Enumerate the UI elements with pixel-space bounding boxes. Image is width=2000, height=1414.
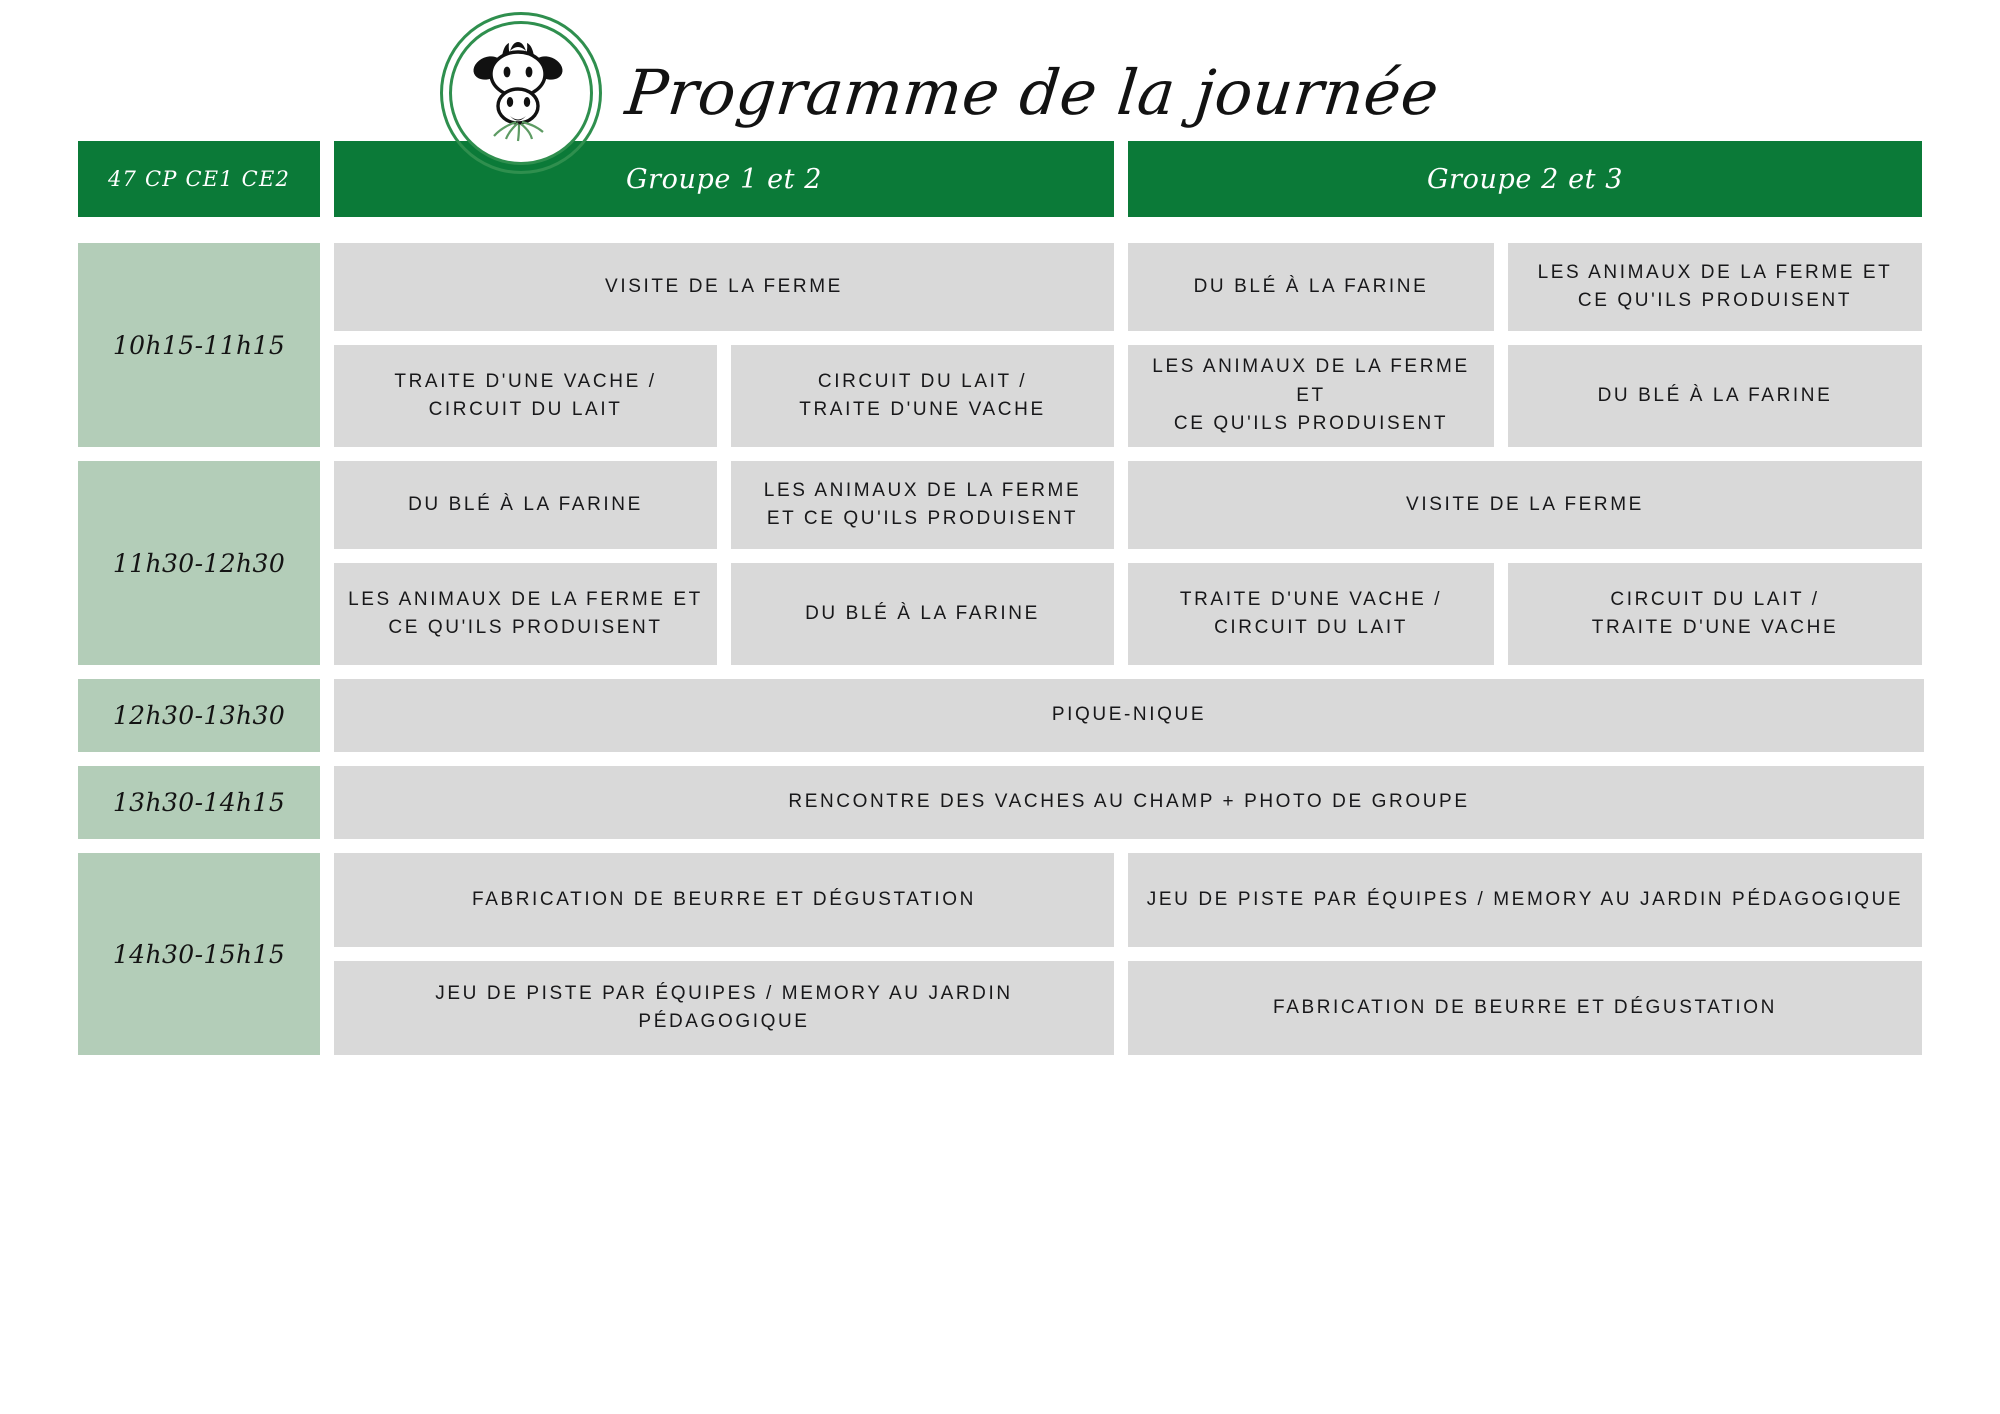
cow-head-icon	[440, 12, 602, 174]
table-row: 14h30-15h15 FABRICATION DE BEURRE ET DÉG…	[78, 853, 1924, 1055]
activity-subrow: DU BLÉ À LA FARINE LES ANIMAUX DE LA FER…	[1128, 243, 1922, 331]
activity-cell: JEU DE PISTE PAR ÉQUIPES / MEMORY AU JAR…	[1128, 853, 1922, 947]
activity-cell: LES ANIMAUX DE LA FERME ET CE QU'ILS PRO…	[334, 563, 717, 665]
activity-text: CE QU'ILS PRODUISENT	[1538, 287, 1893, 316]
activity-cell: VISITE DE LA FERME	[334, 243, 1114, 331]
row-time-label: 11h30-12h30	[78, 461, 320, 665]
activity-subrow: JEU DE PISTE PAR ÉQUIPES / MEMORY AU JAR…	[334, 961, 1114, 1055]
activity-text: JEU DE PISTE PAR ÉQUIPES / MEMORY AU JAR…	[1147, 886, 1903, 915]
row-time-label: 14h30-15h15	[78, 853, 320, 1055]
activity-subrow: VISITE DE LA FERME	[334, 243, 1114, 331]
activity-text: TRAITE D'UNE VACHE	[799, 396, 1045, 425]
activity-cell: DU BLÉ À LA FARINE	[731, 563, 1114, 665]
activity-cell: LES ANIMAUX DE LA FERME ET CE QU'ILS PRO…	[1128, 345, 1494, 447]
activity-subrow: TRAITE D'UNE VACHE / CIRCUIT DU LAIT CIR…	[1128, 563, 1922, 665]
row-time-label: 10h15-11h15	[78, 243, 320, 447]
row-fullwidth-cells: RENCONTRE DES VACHES AU CHAMP + PHOTO DE…	[334, 766, 1924, 839]
schedule-table: 47 CP CE1 CE2 Groupe 1 et 2 Groupe 2 et …	[78, 141, 1924, 1069]
activity-subrow: PIQUE-NIQUE	[334, 679, 1924, 752]
activity-text: CIRCUIT DU LAIT	[394, 396, 656, 425]
activity-text: TRAITE D'UNE VACHE	[1592, 614, 1838, 643]
row-time-label: 12h30-13h30	[78, 679, 320, 752]
activity-cell: CIRCUIT DU LAIT / TRAITE D'UNE VACHE	[731, 345, 1114, 447]
row-fullwidth-cells: PIQUE-NIQUE	[334, 679, 1924, 752]
activity-cell: VISITE DE LA FERME	[1128, 461, 1922, 549]
activity-text: ET CE QU'ILS PRODUISENT	[764, 505, 1081, 534]
row-group-1-cells: DU BLÉ À LA FARINE LES ANIMAUX DE LA FER…	[334, 461, 1114, 665]
activity-cell: DU BLÉ À LA FARINE	[1128, 243, 1494, 331]
activity-subrow: JEU DE PISTE PAR ÉQUIPES / MEMORY AU JAR…	[1128, 853, 1922, 947]
activity-text: VISITE DE LA FERME	[1406, 491, 1644, 520]
activity-text: PIQUE-NIQUE	[1052, 701, 1206, 730]
activity-cell: TRAITE D'UNE VACHE / CIRCUIT DU LAIT	[1128, 563, 1494, 665]
activity-text: LES ANIMAUX DE LA FERME ET	[1142, 353, 1480, 410]
activity-cell: PIQUE-NIQUE	[334, 679, 1924, 752]
activity-text: CIRCUIT DU LAIT	[1180, 614, 1442, 643]
cow-head-glyph	[454, 26, 582, 154]
activity-cell: FABRICATION DE BEURRE ET DÉGUSTATION	[1128, 961, 1922, 1055]
activity-subrow: RENCONTRE DES VACHES AU CHAMP + PHOTO DE…	[334, 766, 1924, 839]
row-group-1-cells: FABRICATION DE BEURRE ET DÉGUSTATION JEU…	[334, 853, 1114, 1055]
activity-text: CIRCUIT DU LAIT /	[799, 368, 1045, 397]
activity-cell: DU BLÉ À LA FARINE	[1508, 345, 1922, 447]
activity-subrow: TRAITE D'UNE VACHE / CIRCUIT DU LAIT CIR…	[334, 345, 1114, 447]
activity-subrow: LES ANIMAUX DE LA FERME ET CE QU'ILS PRO…	[334, 563, 1114, 665]
activity-cell: LES ANIMAUX DE LA FERME ET CE QU'ILS PRO…	[731, 461, 1114, 549]
row-time-label: 13h30-14h15	[78, 766, 320, 839]
activity-text: TRAITE D'UNE VACHE /	[1180, 586, 1442, 615]
activity-subrow: LES ANIMAUX DE LA FERME ET CE QU'ILS PRO…	[1128, 345, 1922, 447]
header-time-column: 47 CP CE1 CE2	[78, 141, 320, 217]
activity-subrow: DU BLÉ À LA FARINE LES ANIMAUX DE LA FER…	[334, 461, 1114, 549]
activity-subrow: FABRICATION DE BEURRE ET DÉGUSTATION	[334, 853, 1114, 947]
activity-text: FABRICATION DE BEURRE ET DÉGUSTATION	[472, 886, 976, 915]
activity-text: DU BLÉ À LA FARINE	[408, 491, 643, 520]
table-row: 12h30-13h30 PIQUE-NIQUE	[78, 679, 1924, 752]
page-header: Programme de la journée	[440, 8, 1438, 178]
activity-cell: JEU DE PISTE PAR ÉQUIPES / MEMORY AU JAR…	[334, 961, 1114, 1055]
activity-text: CE QU'ILS PRODUISENT	[1142, 410, 1480, 439]
activity-text: CIRCUIT DU LAIT /	[1592, 586, 1838, 615]
row-group-2-cells: VISITE DE LA FERME TRAITE D'UNE VACHE / …	[1128, 461, 1922, 665]
row-group-2-cells: DU BLÉ À LA FARINE LES ANIMAUX DE LA FER…	[1128, 243, 1922, 447]
activity-subrow: VISITE DE LA FERME	[1128, 461, 1922, 549]
row-group-2-cells: JEU DE PISTE PAR ÉQUIPES / MEMORY AU JAR…	[1128, 853, 1922, 1055]
page-title: Programme de la journée	[623, 62, 1442, 124]
activity-text: LES ANIMAUX DE LA FERME ET	[1538, 259, 1893, 288]
programme-page: Programme de la journée 47 CP CE1 CE2 Gr…	[0, 0, 2000, 1414]
activity-text: CE QU'ILS PRODUISENT	[348, 614, 703, 643]
activity-text: DU BLÉ À LA FARINE	[805, 600, 1040, 629]
activity-subrow: FABRICATION DE BEURRE ET DÉGUSTATION	[1128, 961, 1922, 1055]
activity-text: LES ANIMAUX DE LA FERME	[764, 477, 1081, 506]
activity-cell: LES ANIMAUX DE LA FERME ET CE QU'ILS PRO…	[1508, 243, 1922, 331]
activity-text: VISITE DE LA FERME	[605, 273, 843, 302]
table-row: 10h15-11h15 VISITE DE LA FERME TRAITE D'…	[78, 243, 1924, 447]
activity-cell: DU BLÉ À LA FARINE	[334, 461, 717, 549]
activity-text: RENCONTRE DES VACHES AU CHAMP + PHOTO DE…	[788, 788, 1469, 817]
activity-cell: CIRCUIT DU LAIT / TRAITE D'UNE VACHE	[1508, 563, 1922, 665]
activity-text: JEU DE PISTE PAR ÉQUIPES / MEMORY AU JAR…	[348, 980, 1100, 1037]
activity-text: TRAITE D'UNE VACHE /	[394, 368, 656, 397]
activity-text: DU BLÉ À LA FARINE	[1598, 382, 1833, 411]
activity-text: DU BLÉ À LA FARINE	[1194, 273, 1429, 302]
activity-cell: RENCONTRE DES VACHES AU CHAMP + PHOTO DE…	[334, 766, 1924, 839]
activity-text: LES ANIMAUX DE LA FERME ET	[348, 586, 703, 615]
table-row: 11h30-12h30 DU BLÉ À LA FARINE LES ANIMA…	[78, 461, 1924, 665]
activity-cell: TRAITE D'UNE VACHE / CIRCUIT DU LAIT	[334, 345, 717, 447]
row-group-1-cells: VISITE DE LA FERME TRAITE D'UNE VACHE / …	[334, 243, 1114, 447]
activity-text: FABRICATION DE BEURRE ET DÉGUSTATION	[1273, 994, 1777, 1023]
activity-cell: FABRICATION DE BEURRE ET DÉGUSTATION	[334, 853, 1114, 947]
table-row: 13h30-14h15 RENCONTRE DES VACHES AU CHAM…	[78, 766, 1924, 839]
